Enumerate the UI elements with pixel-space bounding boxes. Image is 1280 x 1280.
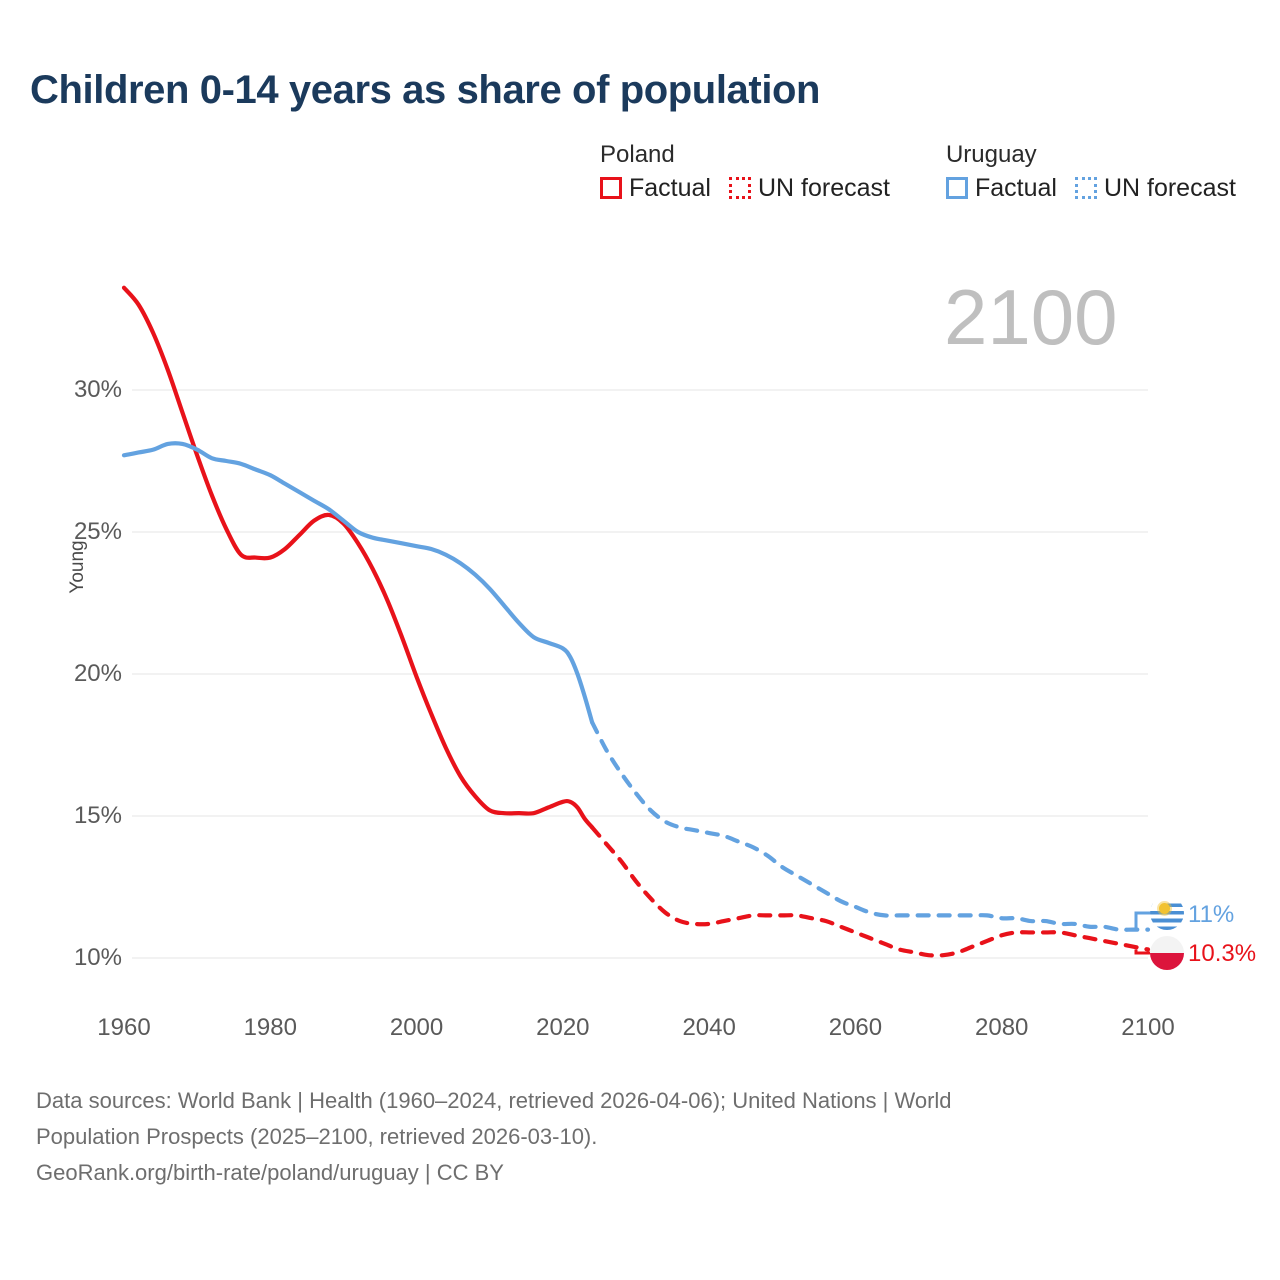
uruguay-flag-icon [1150,896,1184,930]
footer-line-3[interactable]: GeoRank.org/birth-rate/poland/uruguay | … [36,1155,1216,1191]
x-tick-label: 2080 [942,1014,1062,1042]
y-tick-label: 30% [22,376,122,404]
series-line-uruguay-factual [124,443,592,722]
x-tick-label: 2040 [649,1014,769,1042]
x-tick-label: 2100 [1088,1014,1208,1042]
footer: Data sources: World Bank | Health (1960–… [36,1083,1216,1191]
gridlines [132,390,1148,958]
y-tick-label: 15% [22,802,122,830]
x-tick-label: 1960 [64,1014,184,1042]
uruguay-end-value: 11% [1188,901,1234,929]
poland-end-value: 10.3% [1188,940,1256,968]
footer-line-2: Population Prospects (2025–2100, retriev… [36,1119,1216,1155]
x-tick-label: 2060 [795,1014,915,1042]
chart-page: Children 0-14 years as share of populati… [0,0,1280,1280]
series-layer [124,288,1154,956]
y-tick-label: 10% [22,944,122,972]
series-line-uruguay-forecast [592,722,1148,930]
x-tick-label: 1980 [210,1014,330,1042]
series-line-poland-forecast [592,827,1148,955]
y-axis-title: Young [67,487,89,647]
poland-flag-icon [1150,936,1184,970]
x-tick-label: 2000 [357,1014,477,1042]
x-tick-label: 2020 [503,1014,623,1042]
y-tick-label: 20% [22,660,122,688]
series-line-poland-factual [124,288,592,828]
footer-line-1: Data sources: World Bank | Health (1960–… [36,1083,1216,1119]
